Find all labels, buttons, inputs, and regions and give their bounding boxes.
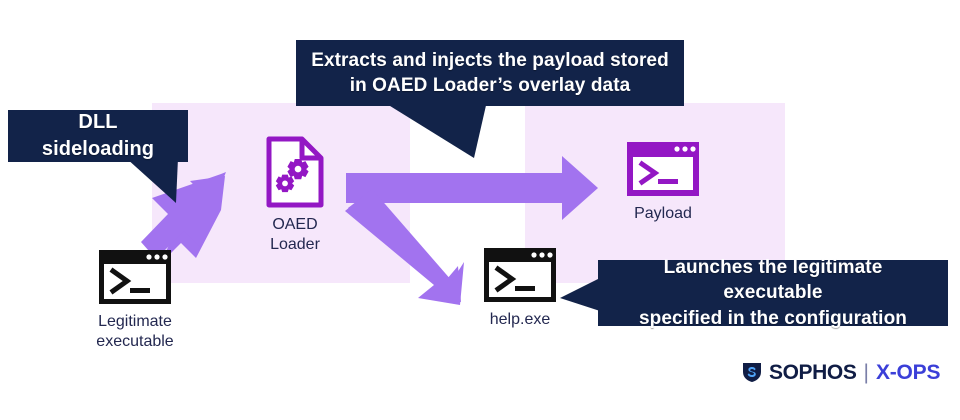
node-payload[interactable]: Payload	[588, 140, 738, 224]
sophos-xops-logo: SOPHOS | X-OPS	[742, 360, 940, 384]
node-oaed-loader[interactable]: OAED Loader	[232, 135, 358, 254]
logo-product-text: X-OPS	[876, 362, 940, 383]
node-label: help.exe	[490, 310, 551, 330]
callout-extracts-injects-payload: Extracts and injects the payload stored …	[296, 40, 684, 106]
node-label: OAED Loader	[270, 215, 320, 254]
callout-tail-dll	[126, 158, 178, 203]
node-help-exe[interactable]: help.exe	[440, 246, 600, 330]
callout-dll-sideloading: DLL sideloading	[8, 110, 188, 162]
logo-separator: |	[863, 362, 868, 383]
sophos-shield-icon	[742, 361, 762, 383]
node-label: Payload	[634, 204, 692, 224]
terminal-window-icon	[482, 246, 558, 304]
terminal-window-icon	[97, 248, 173, 306]
callout-launches-legitimate-executable: Launches the legitimate executable speci…	[598, 260, 948, 326]
logo-brand-text: SOPHOS	[769, 362, 856, 383]
callout-tail-injects	[382, 101, 487, 158]
node-legitimate-executable[interactable]: Legitimate executable	[60, 248, 210, 351]
node-label: Legitimate executable	[96, 312, 173, 351]
diagram-canvas: Legitimate executable OAED Loader	[0, 0, 960, 420]
terminal-window-icon	[625, 140, 701, 198]
document-gears-icon	[264, 135, 326, 209]
